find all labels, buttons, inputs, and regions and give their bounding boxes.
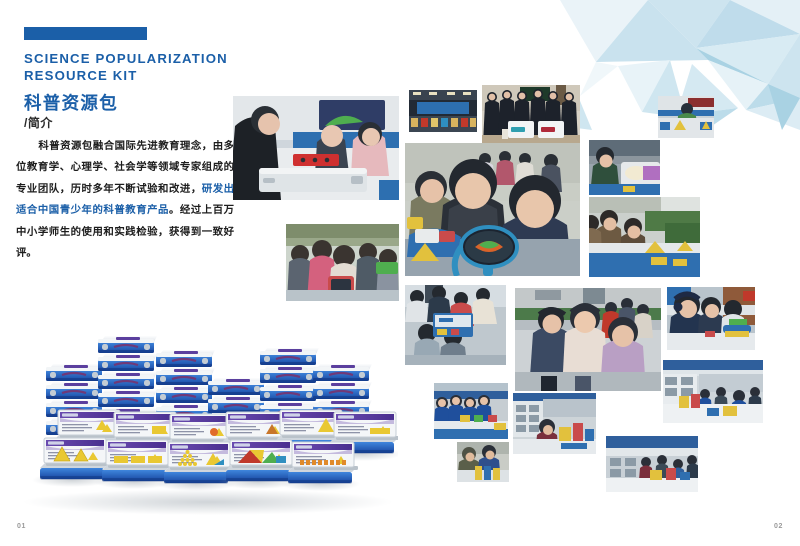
product-kit-array-image bbox=[8, 330, 398, 515]
photo-girl-with-headphones-workshop bbox=[667, 287, 755, 350]
page-number-right: 02 bbox=[774, 523, 783, 530]
photo-children-listening-with-headset bbox=[515, 288, 661, 391]
photo-kids-crowd-around-blue-case bbox=[405, 285, 506, 365]
accent-bar bbox=[24, 27, 147, 40]
photo-outdoor-bench-activity bbox=[589, 197, 700, 277]
intro-paragraph: 科普资源包融合国际先进教育理念，由多位教育学、心理学、社会学等领域专家组成的专业… bbox=[16, 136, 234, 265]
page-title-chinese: 科普资源包 bbox=[24, 93, 254, 114]
page-number-left: 01 bbox=[17, 523, 26, 530]
photo-classroom-wide-shot bbox=[409, 90, 477, 132]
photo-kids-group-experiment-magnifier bbox=[405, 143, 580, 276]
photo-elder-and-students-at-table bbox=[457, 442, 509, 482]
photo-students-in-blue-uniform-row bbox=[434, 383, 508, 439]
photo-exhibition-booth-wide bbox=[663, 360, 763, 423]
poster-page: SCIENCE POPULARIZATION RESOURCE KIT 科普资源… bbox=[0, 0, 800, 546]
page-title-block: SCIENCE POPULARIZATION RESOURCE KIT 科普资源… bbox=[24, 27, 254, 130]
kit-open-row-front bbox=[32, 438, 360, 491]
photo-science-fair-tables bbox=[513, 393, 596, 454]
photo-children-seated-with-tablets bbox=[286, 224, 399, 301]
photo-staff-group-with-two-cases bbox=[482, 85, 580, 144]
page-title-english: SCIENCE POPULARIZATION RESOURCE KIT bbox=[24, 51, 254, 85]
photo-boy-with-illuminated-panel bbox=[589, 140, 660, 195]
photo-teacher-demonstrating-kit bbox=[233, 96, 399, 200]
photo-student-sorting-yellow-blocks bbox=[658, 96, 714, 138]
photo-exhibition-hall-busy bbox=[606, 436, 698, 492]
page-subtitle: /简介 bbox=[24, 116, 254, 130]
